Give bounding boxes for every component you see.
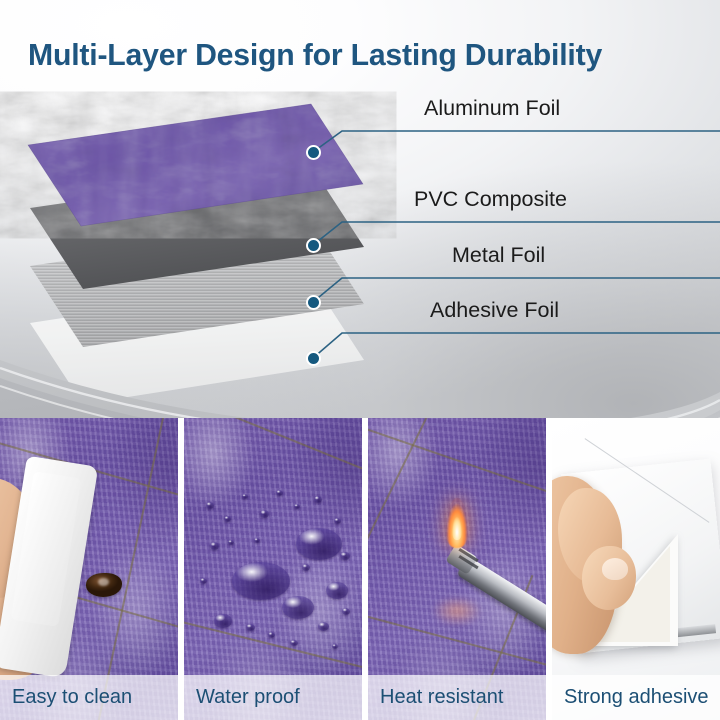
caption-easy-to-clean: Easy to clean: [0, 686, 132, 709]
caption-bar-water-proof: Water proof: [184, 675, 362, 720]
caption-water-proof: Water proof: [184, 686, 300, 709]
product-infographic: Multi-Layer Design for Lasting Durabilit…: [0, 0, 720, 720]
callout-label-adhesive-foil: Adhesive Foil: [430, 298, 559, 323]
layer-diagram-section: Multi-Layer Design for Lasting Durabilit…: [0, 0, 720, 420]
feature-panels: Easy to clean: [0, 418, 720, 720]
callout-label-metal-foil: Metal Foil: [452, 243, 545, 268]
callout-dot-pvc-composite[interactable]: [306, 238, 321, 253]
feature-panel-strong-adhesive[interactable]: Strong adhesive: [552, 418, 720, 720]
callout-dot-metal-foil[interactable]: [306, 295, 321, 310]
caption-heat-resistant: Heat resistant: [368, 686, 503, 709]
caption-bar-heat-resistant: Heat resistant: [368, 675, 546, 720]
callout-label-aluminum-foil: Aluminum Foil: [424, 96, 560, 121]
caption-bar-strong-adhesive: Strong adhesive: [552, 675, 720, 720]
callout-label-pvc-composite: PVC Composite: [414, 187, 567, 212]
feature-panel-heat-resistant[interactable]: Heat resistant: [368, 418, 546, 720]
caption-bar-easy-to-clean: Easy to clean: [0, 675, 178, 720]
callout-dot-aluminum-foil[interactable]: [306, 145, 321, 160]
curved-sweep-divider: [0, 352, 720, 420]
caption-strong-adhesive: Strong adhesive: [552, 686, 709, 709]
feature-panel-easy-to-clean[interactable]: Easy to clean: [0, 418, 178, 720]
feature-panel-water-proof[interactable]: Water proof: [184, 418, 362, 720]
